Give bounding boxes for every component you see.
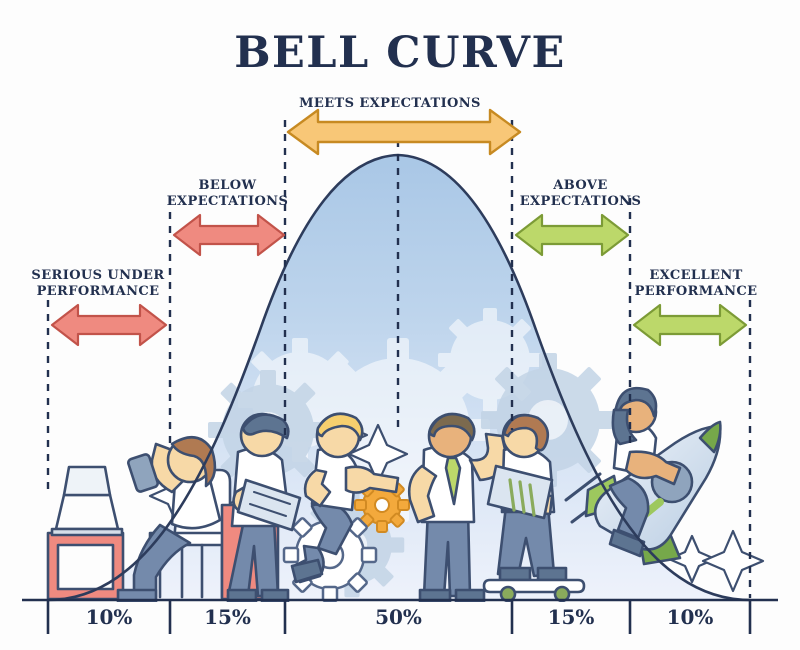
- arrow-meets-expectations: [288, 110, 520, 154]
- percent-label-4: 15%: [512, 605, 630, 629]
- bell-curve-infographic: BELL CURVE: [0, 0, 800, 650]
- label-meets-expectations-line1: MEETS EXPECTATIONS: [275, 96, 505, 112]
- label-excellent-performance-line1: EXCELLENT: [616, 268, 776, 284]
- desk-with-laptop-prop: [48, 467, 123, 599]
- label-above-expectations-line1: ABOVE: [508, 178, 653, 194]
- label-excellent-performance-line2: PERFORMANCE: [616, 284, 776, 300]
- percent-label-1: 10%: [48, 605, 170, 629]
- label-above-expectations-line2: EXPECTATIONS: [508, 194, 653, 210]
- label-serious-under-performance-line1: SERIOUS UNDER: [18, 268, 178, 284]
- percent-label-5: 10%: [630, 605, 750, 629]
- arrow-serious-under-performance: [52, 305, 166, 345]
- percent-label-3: 50%: [285, 605, 512, 629]
- label-below-expectations-line2: EXPECTATIONS: [155, 194, 300, 210]
- label-above-expectations: ABOVE EXPECTATIONS: [508, 178, 653, 211]
- arrow-above-expectations: [516, 215, 628, 255]
- percent-label-2: 15%: [170, 605, 285, 629]
- arrow-below-expectations: [174, 215, 284, 255]
- label-serious-under-performance: SERIOUS UNDER PERFORMANCE: [18, 268, 178, 301]
- label-excellent-performance: EXCELLENT PERFORMANCE: [616, 268, 776, 301]
- label-below-expectations: BELOW EXPECTATIONS: [155, 178, 300, 211]
- label-serious-under-performance-line2: PERFORMANCE: [18, 284, 178, 300]
- label-meets-expectations: MEETS EXPECTATIONS: [275, 96, 505, 112]
- arrow-excellent-performance: [634, 305, 746, 345]
- label-below-expectations-line1: BELOW: [155, 178, 300, 194]
